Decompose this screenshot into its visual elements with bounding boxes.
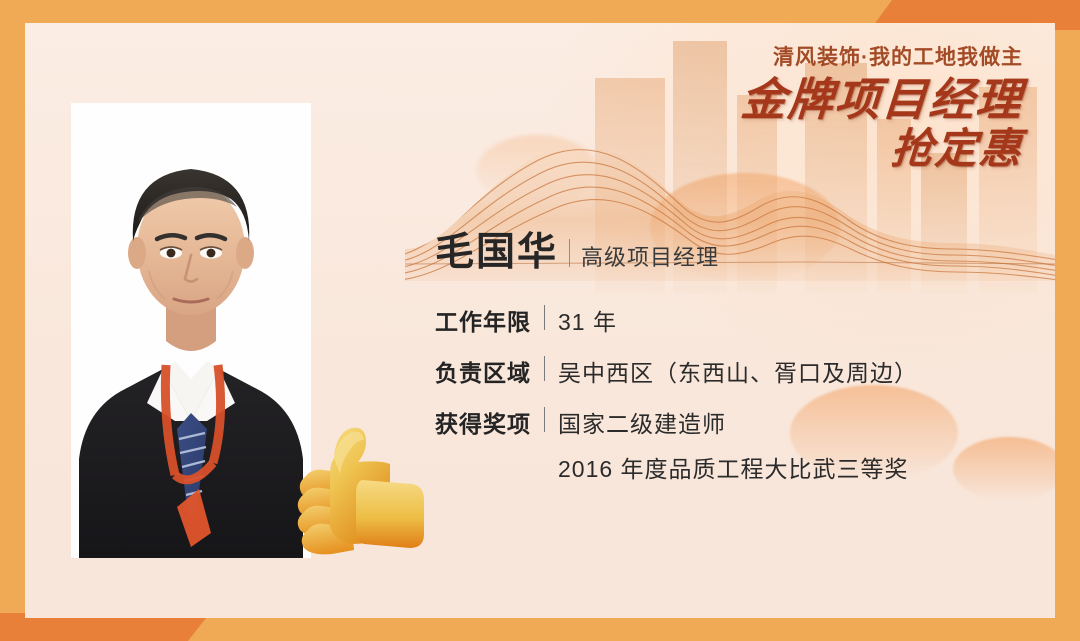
detail-label: 获得奖项	[435, 405, 531, 439]
detail-separator	[544, 407, 545, 432]
headline-brush-line-2: 抢定惠	[740, 128, 1025, 170]
detail-row-region: 负责区域 吴中西区（东西山、胥口及周边）	[435, 354, 1055, 388]
detail-row-awards: 获得奖项 国家二级建造师 2016 年度品质工程大比武三等奖	[435, 405, 1055, 484]
detail-value: 31 年	[558, 303, 617, 337]
promo-poster: 清风装饰·我的工地我做主 金牌项目经理 抢定惠	[0, 0, 1080, 641]
detail-row-work-years: 工作年限 31 年	[435, 303, 1055, 337]
profile-info: 毛国华 高级项目经理 工作年限 31 年 负责区域 吴中西区（东西山、胥口及周边…	[435, 221, 1055, 501]
portrait-image	[71, 103, 311, 558]
detail-value: 吴中西区（东西山、胥口及周边）	[558, 354, 918, 388]
thumbs-up-icon	[290, 418, 430, 568]
portrait-photo	[71, 103, 311, 558]
profile-name-row: 毛国华 高级项目经理	[435, 221, 1055, 277]
headline-block: 清风装饰·我的工地我做主 金牌项目经理 抢定惠	[741, 47, 1023, 170]
detail-value-line-1: 国家二级建造师	[558, 411, 726, 437]
headline-brush-line-1: 金牌项目经理	[739, 77, 1024, 122]
detail-label: 负责区域	[435, 354, 531, 388]
name-separator	[569, 239, 570, 267]
detail-value-group: 国家二级建造师 2016 年度品质工程大比武三等奖	[558, 405, 909, 484]
detail-separator	[544, 305, 545, 330]
detail-separator	[544, 356, 545, 381]
detail-label: 工作年限	[435, 303, 531, 337]
profile-role: 高级项目经理	[581, 240, 719, 272]
headline-kicker: 清风装饰·我的工地我做主	[741, 47, 1023, 68]
poster-card: 清风装饰·我的工地我做主 金牌项目经理 抢定惠	[25, 23, 1055, 618]
detail-value-line-2: 2016 年度品质工程大比武三等奖	[558, 450, 909, 484]
profile-name: 毛国华	[435, 221, 558, 277]
